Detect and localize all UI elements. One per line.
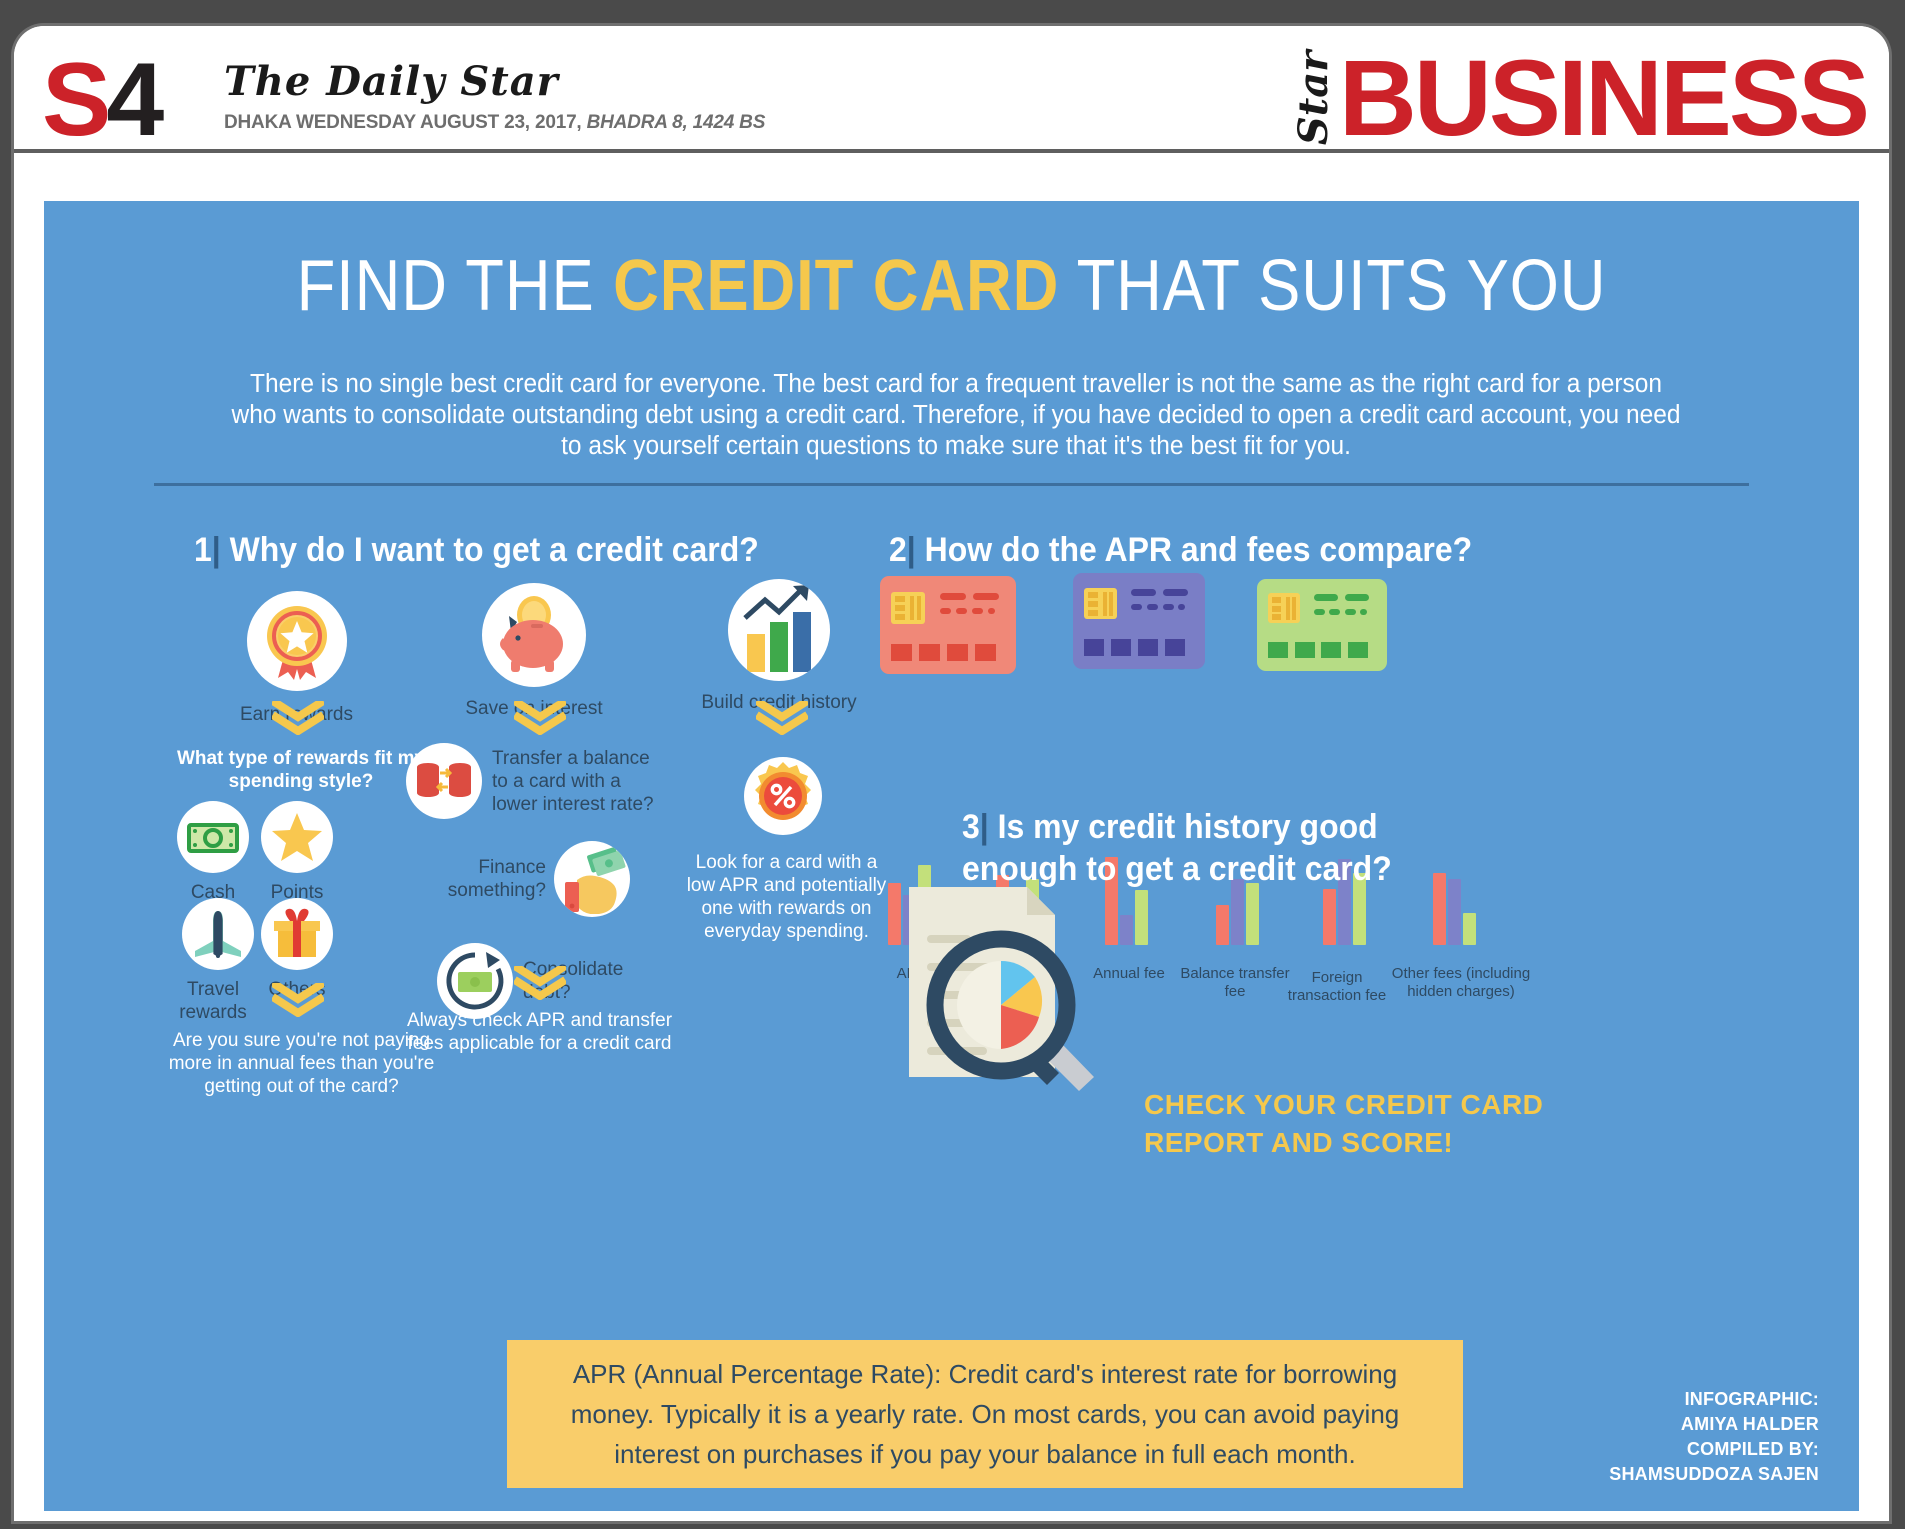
chevron-down-icon [756, 701, 808, 740]
section-3-number: 3 [962, 808, 980, 846]
credit-compiled-label: COMPILED BY: [1609, 1437, 1819, 1462]
title-highlight: CREDIT CARD [613, 246, 1059, 326]
dateline: DHAKA WEDNESDAY AUGUST 23, 2017, BHADRA … [224, 112, 765, 134]
pillar-build-credit-history: Build credit history [679, 579, 879, 714]
credit-card-green [1257, 579, 1387, 676]
chevron-down-icon [272, 701, 324, 740]
intro-paragraph: There is no single best credit card for … [226, 369, 1685, 462]
cta-line-1: CHECK YOUR CREDIT CARD [1144, 1086, 1564, 1124]
reward-option-points: Points [261, 801, 333, 904]
coin-stacks-transfer-icon [406, 743, 482, 819]
pillar-save-on-interest: Save on interest [439, 583, 629, 720]
masthead: S4 The Daily Star DHAKA WEDNESDAY AUGUST… [14, 26, 1889, 153]
dateline-main: DHAKA WEDNESDAY AUGUST 23, 2017, [224, 112, 582, 133]
page-code-letter: S [42, 42, 106, 158]
col1-question: What type of rewards fit my spending sty… [156, 747, 446, 793]
airplane-icon [182, 898, 254, 970]
bar-series-1 [1433, 873, 1446, 945]
star-icon [261, 801, 333, 873]
section-title: BUSINESS [1339, 46, 1867, 150]
chevron-down-icon [514, 966, 566, 1005]
page-code-number: 4 [106, 42, 159, 158]
col2-item-label: Transfer a balance to a card with a lowe… [492, 743, 657, 816]
col3-footer: Look for a card with a low APR and poten… [684, 851, 889, 943]
apr-definition-box: APR (Annual Percentage Rate): Credit car… [507, 1340, 1463, 1488]
money-refresh-icon [437, 943, 513, 1019]
credit-block: INFOGRAPHIC: AMIYA HALDER COMPILED BY: S… [1609, 1387, 1819, 1487]
gift-box-icon [261, 898, 333, 970]
section-1-title: Why do I want to get a credit card? [221, 531, 759, 569]
bar-series-1 [1216, 905, 1229, 945]
section-1-number: 1 [194, 531, 212, 569]
title-part-1: FIND THE [297, 246, 614, 326]
col2-item-label: Finance something? [436, 856, 546, 902]
hand-cash-icon [554, 841, 630, 917]
banknote-icon [177, 801, 249, 873]
paper-name: The Daily Star [224, 58, 765, 106]
chevron-down-icon [514, 701, 566, 740]
section-2-title: How do the APR and fees compare? [916, 531, 1472, 569]
document-magnifier-pie-icon [879, 879, 1119, 1099]
page-number-logo: S4 [42, 48, 159, 152]
bar-series-3 [1135, 890, 1148, 945]
piggy-bank-icon [482, 583, 586, 687]
bar-series-1 [1323, 889, 1336, 945]
section-logo: Star BUSINESS [1287, 46, 1867, 150]
reward-option-travel: Travel rewards [177, 898, 259, 1024]
growth-bar-chart-icon [728, 579, 830, 681]
divider-rule [154, 483, 1749, 486]
section-1-heading: 1| Why do I want to get a credit card? [194, 529, 759, 571]
credit-compiled-name: SHAMSUDDOZA SAJEN [1609, 1462, 1819, 1487]
bar-label: Balance transfer fee [1175, 965, 1295, 1001]
section-3-title: Is my credit history good enough to get … [962, 808, 1392, 888]
cta-line-2: REPORT AND SCORE! [1144, 1124, 1564, 1162]
paper-identity: The Daily Star DHAKA WEDNESDAY AUGUST 23… [224, 58, 765, 134]
col2-item-finance-something: Finance something? [436, 841, 630, 917]
reward-option-label: Travel rewards [167, 978, 259, 1024]
chevron-down-icon [272, 983, 324, 1022]
apr-definition-text: APR (Annual Percentage Rate): Credit car… [547, 1354, 1423, 1474]
percent-badge-icon [744, 757, 822, 835]
section-2-heading: 2| How do the APR and fees compare? [889, 529, 1472, 571]
title-part-2: THAT SUITS YOU [1059, 246, 1606, 326]
bar-group-other-fees [1433, 873, 1476, 945]
infographic-page: S4 The Daily Star DHAKA WEDNESDAY AUGUST… [0, 0, 1905, 1529]
section-3-heading: 3| Is my credit history good enough to g… [962, 806, 1413, 890]
credit-infographic-name: AMIYA HALDER [1609, 1412, 1819, 1437]
dateline-bengali: BHADRA 8, 1424 BS [587, 112, 766, 133]
bar-label: Foreign transaction fee [1285, 969, 1389, 1005]
bar-series-3 [1246, 883, 1259, 945]
cta-text: CHECK YOUR CREDIT CARD REPORT AND SCORE! [1144, 1086, 1564, 1162]
award-rosette-icon [247, 591, 347, 691]
col2-footer: Always check APR and transfer fees appli… [402, 1009, 677, 1055]
infographic-panel: FIND THE CREDIT CARD THAT SUITS YOU Ther… [44, 201, 1859, 1511]
page-title: FIND THE CREDIT CARD THAT SUITS YOU [153, 249, 1750, 323]
section-2-number: 2 [889, 531, 907, 569]
bar-series-2 [1120, 915, 1133, 945]
bar-series-3 [1463, 913, 1476, 945]
bar-series-2 [1448, 879, 1461, 945]
bar-label: Other fees (including hidden charges) [1380, 965, 1542, 1001]
credit-card-purple [1073, 573, 1205, 674]
col2-item-transfer-balance: Transfer a balance to a card with a lowe… [406, 743, 657, 819]
credit-card-red [880, 576, 1016, 679]
credit-infographic-label: INFOGRAPHIC: [1609, 1387, 1819, 1412]
newspaper-page: S4 The Daily Star DHAKA WEDNESDAY AUGUST… [14, 26, 1889, 1521]
section-star-script: Star [1265, 72, 1361, 124]
